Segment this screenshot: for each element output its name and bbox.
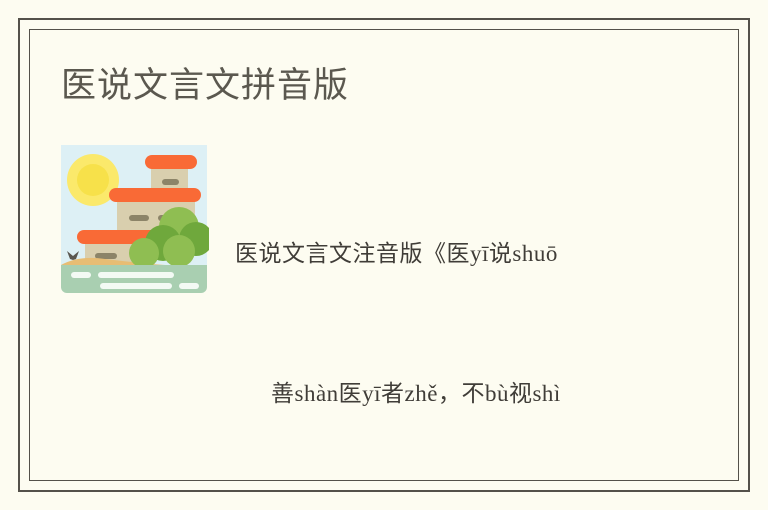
text-line-2 — [98, 272, 174, 278]
pavilion-upper-roof — [145, 155, 197, 169]
illustration-svg — [59, 143, 209, 293]
article-line: 医说文言文注音版《医yī说shuō — [235, 231, 739, 278]
text-line-4 — [179, 283, 199, 289]
landscape-temple-illustration — [59, 143, 209, 293]
article-line: 善shàn医yī者zhě，不bù视shì — [271, 371, 739, 418]
pavilion-lower-window — [95, 253, 117, 259]
article-text: 医说文言文注音版《医yī说shuō 善shàn医yī者zhě，不bù视shì r… — [235, 138, 739, 481]
text-line-1 — [71, 272, 91, 278]
pavilion-middle-window-left — [129, 215, 149, 221]
foliage-shape-e — [163, 235, 195, 267]
page-border-inner: 医说文言文拼音版 — [29, 29, 739, 481]
pavilion-middle-roof — [109, 188, 201, 202]
document-page: 医说文言文拼音版 — [0, 0, 768, 510]
foliage-shape-d — [129, 238, 159, 268]
page-title: 医说文言文拼音版 — [61, 64, 349, 108]
text-line-3 — [100, 283, 172, 289]
pavilion-upper-window — [162, 179, 179, 185]
sun-core-icon — [77, 164, 109, 196]
